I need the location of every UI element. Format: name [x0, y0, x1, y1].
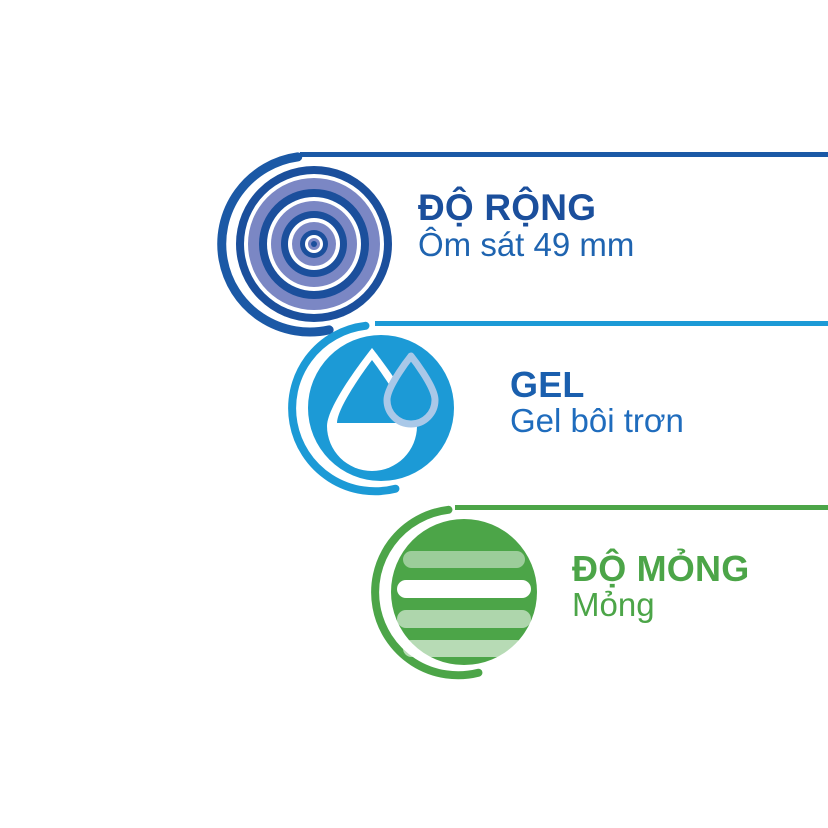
feature-title-gel: GEL [510, 366, 684, 403]
feature-title-width: ĐỘ RỘNG [418, 189, 634, 227]
concentric-rings-icon [214, 148, 406, 340]
feature-subtitle-thin: Mỏng [572, 587, 749, 624]
stacked-bars-icon [370, 502, 550, 682]
feature-text-thin: ĐỘ MỎNG Mỏng [572, 550, 749, 624]
feature-title-thin: ĐỘ MỎNG [572, 550, 749, 587]
water-droplet-icon [287, 318, 467, 498]
infographic-canvas: ĐỘ RỘNG Ôm sát 49 mm GEL Gel bôi trơn [0, 0, 828, 828]
feature-text-gel: GEL Gel bôi trơn [510, 366, 684, 440]
feature-text-width: ĐỘ RỘNG Ôm sát 49 mm [418, 189, 634, 264]
feature-subtitle-width: Ôm sát 49 mm [418, 227, 634, 264]
feature-subtitle-gel: Gel bôi trơn [510, 403, 684, 440]
